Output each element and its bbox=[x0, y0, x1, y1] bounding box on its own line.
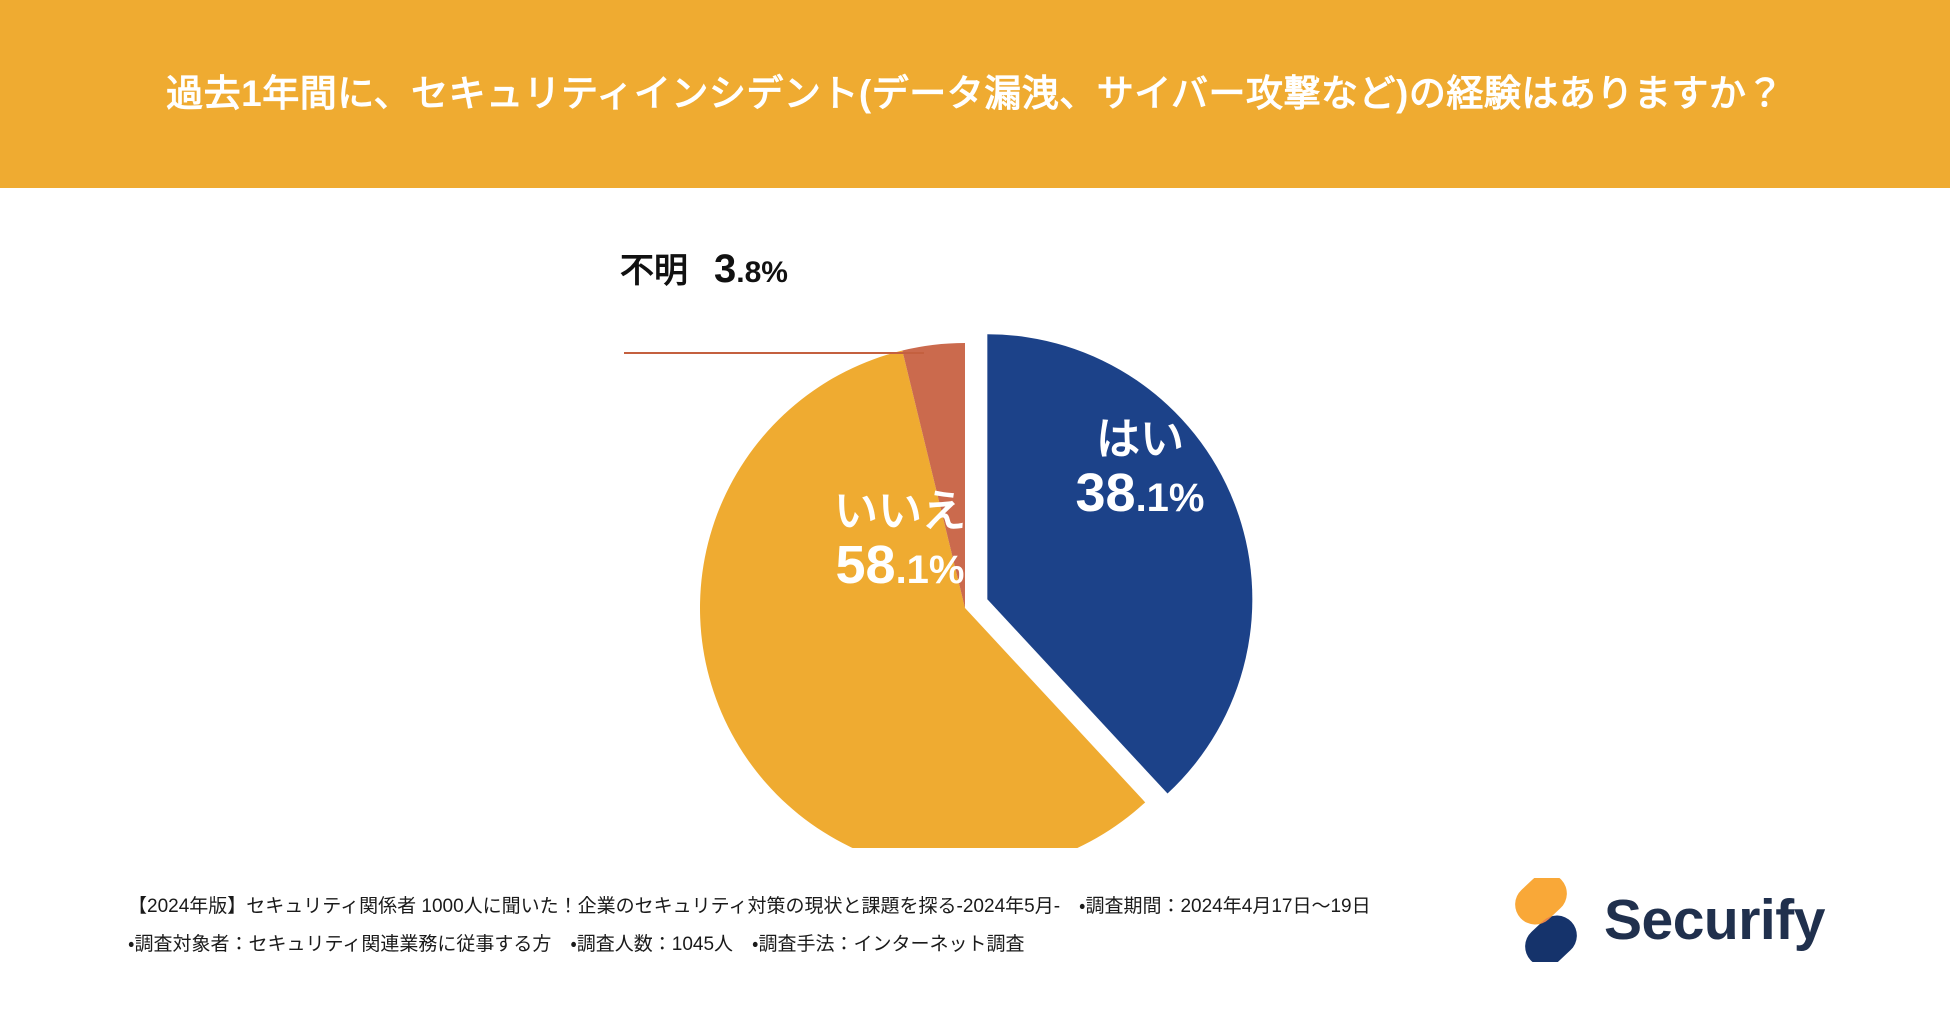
callout-leader-line bbox=[624, 352, 924, 354]
securify-logo-icon bbox=[1510, 878, 1582, 962]
survey-meta-line-1: 【2024年版】セキュリティ関係者 1000人に聞いた！企業のセキュリティ対策の… bbox=[128, 888, 1371, 926]
header-banner: 過去1年間に、セキュリティインシデント(データ漏洩、サイバー攻撃など)の経験はあ… bbox=[0, 0, 1950, 188]
pie-chart-svg bbox=[0, 188, 1950, 848]
footer: 【2024年版】セキュリティ関係者 1000人に聞いた！企業のセキュリティ対策の… bbox=[0, 860, 1950, 1024]
slice-callout-unknown: 不明 3.8% bbox=[620, 243, 788, 292]
slice-value-int: 3 bbox=[714, 247, 736, 291]
pie-chart: はい 38.1% いいえ 58.1% 不明 3.8% bbox=[0, 188, 1950, 848]
slice-callout-unknown-value: 3.8% bbox=[714, 247, 788, 292]
page-title: 過去1年間に、セキュリティインシデント(データ漏洩、サイバー攻撃など)の経験はあ… bbox=[166, 72, 1784, 116]
slice-value-dec: .8% bbox=[736, 256, 788, 289]
securify-logo[interactable]: Securify bbox=[1510, 878, 1825, 962]
survey-meta: 【2024年版】セキュリティ関係者 1000人に聞いた！企業のセキュリティ対策の… bbox=[128, 888, 1371, 964]
survey-meta-line-2: ・調査対象者：セキュリティ関連業務に従事する方 ・調査人数：1045人 ・調査手… bbox=[128, 926, 1371, 964]
slice-callout-unknown-name: 不明 bbox=[620, 243, 688, 292]
securify-wordmark: Securify bbox=[1604, 892, 1825, 949]
